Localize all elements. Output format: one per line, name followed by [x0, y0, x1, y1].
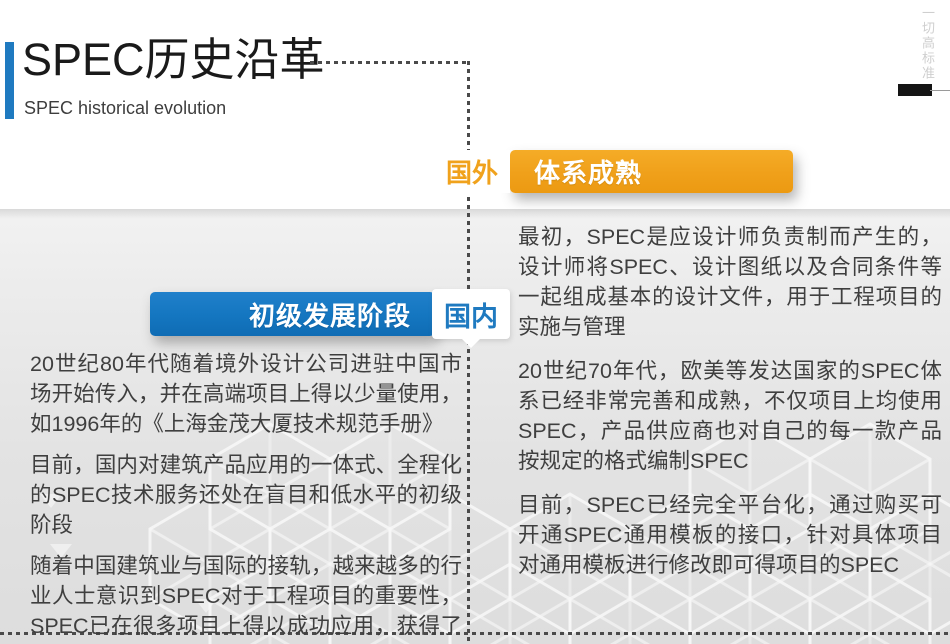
domestic-paragraph: 目前，国内对建筑产品应用的一体式、全程化的SPEC技术服务还处在盲目和低水平的初… — [30, 450, 462, 540]
corner-line-decoration — [930, 90, 950, 91]
dotted-connector-vertical — [467, 61, 470, 644]
domestic-text-column: 20世纪80年代随着境外设计公司进驻中国市场开始传入，并在高端项目上得以少量使用… — [30, 349, 462, 644]
foreign-paragraph: 目前，SPEC已经完全平台化，通过购买可开通SPEC通用模板的接口，针对具体项目… — [518, 490, 942, 580]
corner-tagline: 一切高标准 — [920, 6, 936, 81]
foreign-banner: 体系成熟 — [510, 150, 793, 193]
foreign-paragraph: 最初，SPEC是应设计师负责制而产生的，设计师将SPEC、设计图纸以及合同条件等… — [518, 222, 942, 342]
domestic-banner-text: 初级发展阶段 — [249, 296, 411, 333]
panel-top-shadow — [0, 209, 950, 219]
domestic-label-badge: 国内 — [432, 289, 510, 339]
title-accent-bar — [5, 42, 14, 119]
corner-bar-decoration — [898, 84, 932, 96]
foreign-text-column: 最初，SPEC是应设计师负责制而产生的，设计师将SPEC、设计图纸以及合同条件等… — [518, 222, 942, 594]
foreign-label-badge: 国外 — [434, 150, 510, 193]
page-subtitle: SPEC historical evolution — [24, 96, 226, 120]
dotted-connector-horizontal-top — [310, 61, 470, 64]
slide-canvas: SPEC历史沿革 SPEC historical evolution 一切高标准… — [0, 0, 950, 644]
domestic-paragraph: 20世纪80年代随着境外设计公司进驻中国市场开始传入，并在高端项目上得以少量使用… — [30, 349, 462, 439]
foreign-paragraph: 20世纪70年代，欧美等发达国家的SPEC体系已经非常完善和成熟，不仅项目上均使… — [518, 356, 942, 476]
domestic-banner: 初级发展阶段 — [150, 292, 435, 336]
domestic-paragraph: 随着中国建筑业与国际的接轨，越来越多的行业人士意识到SPEC对于工程项目的重要性… — [30, 551, 462, 644]
foreign-banner-text: 体系成熟 — [534, 153, 642, 190]
page-title: SPEC历史沿革 — [22, 33, 325, 87]
